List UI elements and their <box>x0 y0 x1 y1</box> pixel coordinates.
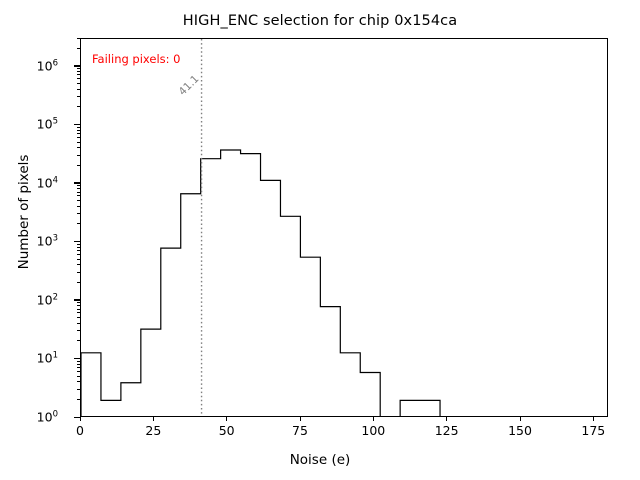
x-tick-label-0: 0 <box>76 423 84 438</box>
y-minor-tick <box>77 200 80 201</box>
x-tick-label-150: 150 <box>508 423 532 438</box>
y-minor-tick <box>77 74 80 75</box>
y-minor-tick <box>77 305 80 306</box>
y-minor-tick <box>77 127 80 128</box>
y-minor-tick <box>77 302 80 303</box>
y-minor-tick <box>77 192 80 193</box>
y-minor-tick <box>77 96 80 97</box>
y-minor-tick <box>77 254 80 255</box>
y-minor-tick <box>77 330 80 331</box>
y-minor-tick <box>77 106 80 107</box>
y-tick-1e5 <box>74 124 80 125</box>
y-tick-label-1e5: 105 <box>37 117 58 132</box>
y-minor-tick <box>77 323 80 324</box>
y-minor-tick <box>77 206 80 207</box>
y-minor-tick <box>77 399 80 400</box>
x-tick-100 <box>373 417 374 421</box>
y-minor-tick <box>77 367 80 368</box>
y-minor-tick <box>77 147 80 148</box>
y-minor-tick <box>77 155 80 156</box>
x-tick-label-175: 175 <box>581 423 605 438</box>
y-minor-tick <box>77 89 80 90</box>
y-minor-tick <box>77 259 80 260</box>
x-tick-label-25: 25 <box>145 423 161 438</box>
y-tick-label-1e1: 101 <box>37 351 58 366</box>
chart-figure: HIGH_ENC selection for chip 0x154ca Fail… <box>0 0 640 480</box>
y-minor-tick <box>77 282 80 283</box>
x-tick-25 <box>153 417 154 421</box>
x-tick-0 <box>80 417 81 421</box>
y-tick-label-1e4: 104 <box>37 175 58 190</box>
y-minor-tick <box>77 247 80 248</box>
y-minor-tick <box>77 133 80 134</box>
y-minor-tick <box>77 213 80 214</box>
plot-frame <box>80 38 608 417</box>
y-tick-1e6 <box>74 65 80 66</box>
y-minor-tick <box>77 389 80 390</box>
y-minor-tick <box>77 48 80 49</box>
y-minor-tick <box>77 142 80 143</box>
y-tick-label-1e2: 102 <box>37 292 58 307</box>
y-minor-tick <box>77 381 80 382</box>
y-minor-tick <box>77 78 80 79</box>
y-minor-tick <box>77 309 80 310</box>
x-tick-label-125: 125 <box>435 423 459 438</box>
x-tick-125 <box>446 417 447 421</box>
y-minor-tick <box>77 340 80 341</box>
y-minor-tick <box>77 188 80 189</box>
y-tick-1e1 <box>74 358 80 359</box>
y-minor-tick <box>77 317 80 318</box>
y-tick-label-1e0: 100 <box>37 409 58 424</box>
y-tick-label-1e6: 106 <box>37 58 58 73</box>
y-tick-label-1e3: 103 <box>37 234 58 249</box>
x-tick-label-75: 75 <box>292 423 308 438</box>
y-minor-tick <box>77 185 80 186</box>
plot-area <box>81 39 607 416</box>
y-minor-tick <box>77 376 80 377</box>
y-minor-tick <box>77 83 80 84</box>
y-tick-1e0 <box>74 417 80 418</box>
x-axis-label: Noise (e) <box>0 452 640 468</box>
mean-vline <box>81 39 607 416</box>
failing-pixels-annotation: Failing pixels: 0 <box>92 52 181 66</box>
y-minor-tick <box>77 71 80 72</box>
y-minor-tick <box>77 165 80 166</box>
y-minor-tick <box>77 312 80 313</box>
x-tick-50 <box>226 417 227 421</box>
y-tick-1e3 <box>74 241 80 242</box>
y-minor-tick <box>77 364 80 365</box>
y-minor-tick <box>77 361 80 362</box>
y-minor-tick <box>77 38 80 39</box>
y-minor-tick <box>77 371 80 372</box>
x-tick-175 <box>593 417 594 421</box>
y-minor-tick <box>77 68 80 69</box>
x-tick-75 <box>300 417 301 421</box>
y-minor-tick <box>77 264 80 265</box>
y-minor-tick <box>77 137 80 138</box>
y-axis-label: Number of pixels <box>16 102 32 322</box>
y-minor-tick <box>77 130 80 131</box>
y-minor-tick <box>77 195 80 196</box>
x-tick-label-50: 50 <box>219 423 235 438</box>
y-minor-tick <box>77 244 80 245</box>
y-minor-tick <box>77 250 80 251</box>
x-tick-150 <box>520 417 521 421</box>
x-tick-label-100: 100 <box>361 423 385 438</box>
y-tick-1e4 <box>74 182 80 183</box>
y-minor-tick <box>77 223 80 224</box>
chart-title: HIGH_ENC selection for chip 0x154ca <box>0 13 640 29</box>
y-tick-1e2 <box>74 299 80 300</box>
y-minor-tick <box>77 272 80 273</box>
